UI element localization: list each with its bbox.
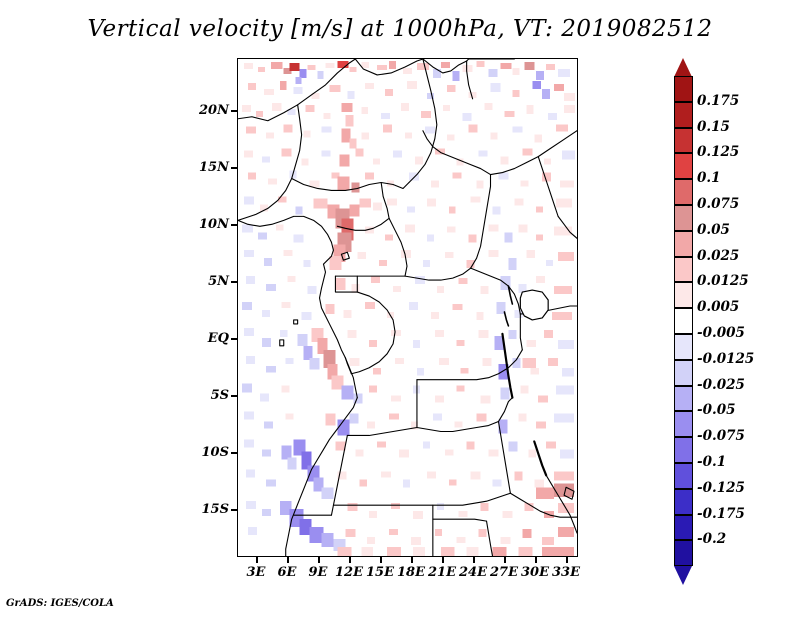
colorbar[interactable] xyxy=(674,60,693,552)
colorbar-band-3 xyxy=(674,153,693,179)
colorbar-band-10 xyxy=(674,334,693,360)
colorbar-arrow-min xyxy=(674,566,692,585)
colorbar-band-14 xyxy=(674,437,693,463)
colorbar-label-10: -0.0125 xyxy=(697,351,754,367)
y-axis-label-20n: 20N xyxy=(199,103,229,118)
y-axis-label-15s: 15S xyxy=(202,502,229,517)
x-tick-3e xyxy=(256,557,258,563)
x-tick-18e xyxy=(411,557,413,563)
x-tick-12e xyxy=(349,557,351,563)
x-tick-27e xyxy=(504,557,506,563)
y-axis-label-5s: 5S xyxy=(211,388,229,403)
y-tick-15s xyxy=(231,509,237,511)
colorbar-band-1 xyxy=(674,102,693,128)
colorbar-band-2 xyxy=(674,128,693,154)
x-tick-9e xyxy=(318,557,320,563)
y-tick-5s xyxy=(231,395,237,397)
colorbar-label-7: 0.0125 xyxy=(697,273,749,289)
colorbar-label-15: -0.125 xyxy=(697,480,745,496)
y-tick-15n xyxy=(231,167,237,169)
colorbar-label-0: 0.175 xyxy=(697,93,739,109)
colorbar-label-13: -0.075 xyxy=(697,428,745,444)
x-tick-30e xyxy=(535,557,537,563)
x-tick-15e xyxy=(380,557,382,563)
colorbar-label-14: -0.1 xyxy=(697,454,726,470)
colorbar-band-0 xyxy=(674,76,693,102)
colorbar-label-8: 0.005 xyxy=(697,299,739,315)
colorbar-band-17 xyxy=(674,515,693,541)
x-tick-6e xyxy=(287,557,289,563)
colorbar-band-11 xyxy=(674,360,693,386)
y-tick-10s xyxy=(231,452,237,454)
colorbar-label-1: 0.15 xyxy=(697,119,730,135)
y-tick-eq xyxy=(231,338,237,340)
colorbar-band-12 xyxy=(674,386,693,412)
y-axis-label-10s: 10S xyxy=(202,445,229,460)
colorbar-band-16 xyxy=(674,489,693,515)
y-axis-label-15n: 15N xyxy=(199,160,229,175)
colorbar-band-4 xyxy=(674,179,693,205)
colorbar-band-6 xyxy=(674,231,693,257)
colorbar-label-6: 0.025 xyxy=(697,248,739,264)
y-axis-label-eq: EQ xyxy=(208,331,229,346)
colorbar-band-5 xyxy=(674,205,693,231)
colorbar-label-17: -0.2 xyxy=(697,531,726,547)
y-tick-5n xyxy=(231,281,237,283)
colorbar-arrow-max xyxy=(674,58,692,77)
y-axis-label-10n: 10N xyxy=(199,217,229,232)
y-tick-10n xyxy=(231,224,237,226)
colorbar-label-16: -0.175 xyxy=(697,506,745,522)
x-tick-33e xyxy=(566,557,568,563)
page-title: Vertical velocity [m/s] at 1000hPa, VT: … xyxy=(0,16,800,42)
colorbar-label-12: -0.05 xyxy=(697,402,735,418)
colorbar-band-13 xyxy=(674,411,693,437)
y-axis-label-5n: 5N xyxy=(208,274,229,289)
colorbar-label-9: -0.005 xyxy=(697,325,745,341)
colorbar-band-9 xyxy=(674,308,693,334)
x-tick-21e xyxy=(442,557,444,563)
footer-credit: GrADS: IGES/COLA xyxy=(6,598,114,609)
colorbar-label-3: 0.1 xyxy=(697,170,721,186)
map-plot-area[interactable] xyxy=(237,58,578,557)
colorbar-band-15 xyxy=(674,463,693,489)
colorbar-band-7 xyxy=(674,257,693,283)
y-tick-20n xyxy=(231,110,237,112)
colorbar-band-8 xyxy=(674,282,693,308)
colorbar-label-4: 0.075 xyxy=(697,196,739,212)
colorbar-band-18 xyxy=(674,540,693,566)
colorbar-label-11: -0.025 xyxy=(697,377,745,393)
vertical-velocity-field xyxy=(238,59,577,556)
colorbar-label-5: 0.05 xyxy=(697,222,730,238)
x-axis-label-33e: 33E xyxy=(546,565,586,580)
x-tick-24e xyxy=(473,557,475,563)
colorbar-label-2: 0.125 xyxy=(697,144,739,160)
